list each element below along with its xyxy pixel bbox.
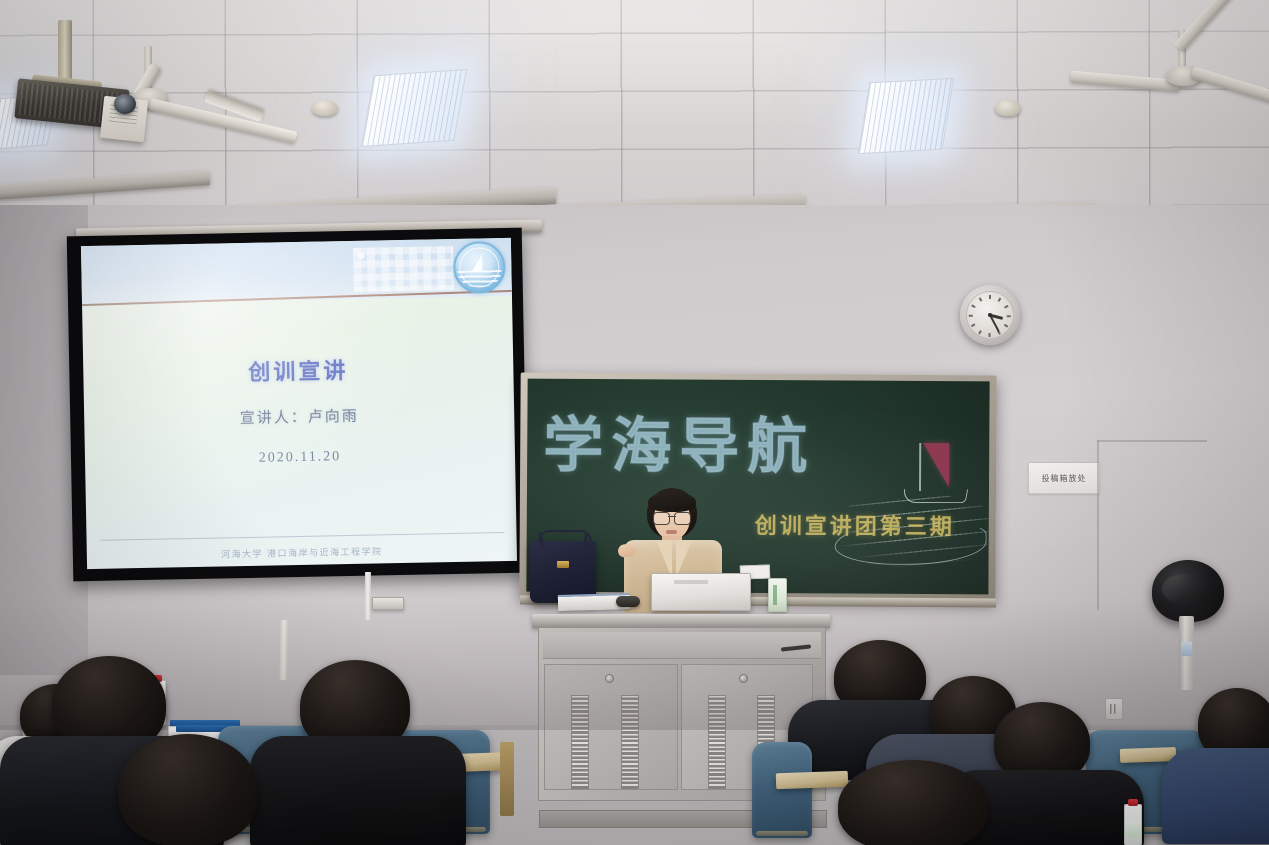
fold-out-desk[interactable]: [776, 771, 849, 790]
clock-center-pin: [988, 313, 992, 317]
projector-lens-icon: [114, 94, 136, 114]
wall-panel-edge: [1097, 440, 1207, 442]
clock-tick: [969, 315, 973, 317]
eyeglasses-icon: [653, 512, 691, 523]
slide-title: 创训宣讲: [83, 350, 514, 390]
fluorescent-panel-center: [361, 69, 467, 147]
audience-torso: [250, 736, 466, 845]
clock-tick: [979, 297, 982, 301]
slide-presenter-line: 宣讲人：卢向雨: [84, 402, 514, 431]
wall-panel-edge: [1097, 440, 1099, 610]
blackboard-headline: 学海导航: [543, 397, 816, 486]
projector-mount: [58, 20, 72, 82]
lens-right: [674, 512, 691, 525]
water-bottle: [1124, 804, 1142, 845]
slide-header-decoration: [353, 246, 454, 292]
lecture-seat[interactable]: [752, 742, 812, 838]
clock-tick: [979, 330, 982, 334]
sailboat-hull: [902, 489, 969, 503]
sailboat-sail: [919, 443, 949, 487]
clock-tick: [989, 333, 991, 337]
audience-torso: [1162, 748, 1269, 844]
slide-footer-text: 河海大学 港口海岸与近海工程学院: [87, 542, 517, 563]
audience-head: [118, 734, 258, 845]
clock-tick: [1004, 305, 1008, 308]
chalk-sailboat-drawing: [897, 443, 987, 514]
wall-floor-shadow: [0, 600, 1269, 730]
clock-tick: [971, 324, 975, 327]
seat-frame-rail: [500, 742, 514, 816]
blackboard-subline: 创训宣讲团第三期: [755, 508, 955, 541]
fluorescent-panel-right: [858, 78, 954, 154]
bottle-label: [1125, 821, 1141, 837]
clock-tick: [971, 305, 975, 308]
speaker-fringe: [648, 492, 696, 512]
bottle-cap: [1128, 799, 1138, 806]
slide-date: 2020.11.20: [85, 446, 515, 470]
clock-tick: [998, 297, 1001, 301]
speaker-mouth: [666, 530, 677, 534]
wall-clock: [960, 285, 1020, 345]
slide-surface: 创训宣讲 宣讲人：卢向雨 2020.11.20 河海大学 港口海岸与近海工程学院: [81, 238, 517, 569]
fold-out-desk[interactable]: [1120, 747, 1176, 763]
wall-sign: 投稿箱放处: [1028, 462, 1100, 494]
clock-tick: [989, 295, 991, 299]
logo-sail-shape: [471, 254, 482, 271]
laptop-label: [674, 580, 708, 584]
lens-left: [653, 512, 670, 525]
ceiling: [0, 0, 1269, 232]
glasses-bridge: [668, 516, 676, 517]
clock-tick: [1007, 315, 1011, 317]
audience-head: [838, 760, 988, 845]
clock-tick: [1004, 324, 1008, 327]
clock-face: [966, 291, 1014, 339]
classroom-photo: 投稿箱放处: [0, 0, 1269, 845]
projection-screen: 创训宣讲 宣讲人：卢向雨 2020.11.20 河海大学 港口海岸与近海工程学院: [67, 228, 529, 582]
logo-wave-shape: [457, 270, 501, 287]
smoke-detector-right: [995, 100, 1021, 116]
handbag-emblem: [557, 561, 569, 568]
slide-footer-rule: [101, 532, 505, 541]
smoke-detector-left: [312, 100, 338, 116]
